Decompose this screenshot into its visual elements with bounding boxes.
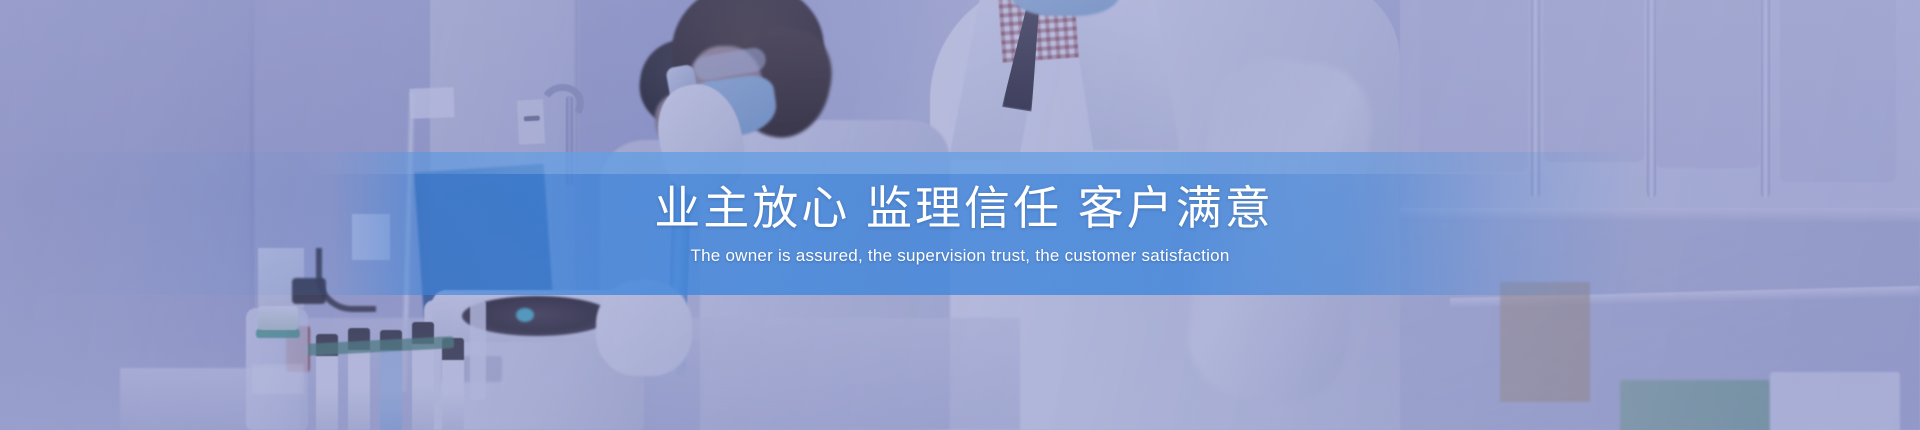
banner-headline: 业主放心 监理信任 客户满意 <box>646 181 1274 235</box>
banner-caption: 业主放心 监理信任 客户满意 The owner is assured, the… <box>0 152 1920 295</box>
banner-subheadline: The owner is assured, the supervision tr… <box>690 246 1229 266</box>
hero-banner: 业主放心 监理信任 客户满意 The owner is assured, the… <box>0 0 1920 430</box>
